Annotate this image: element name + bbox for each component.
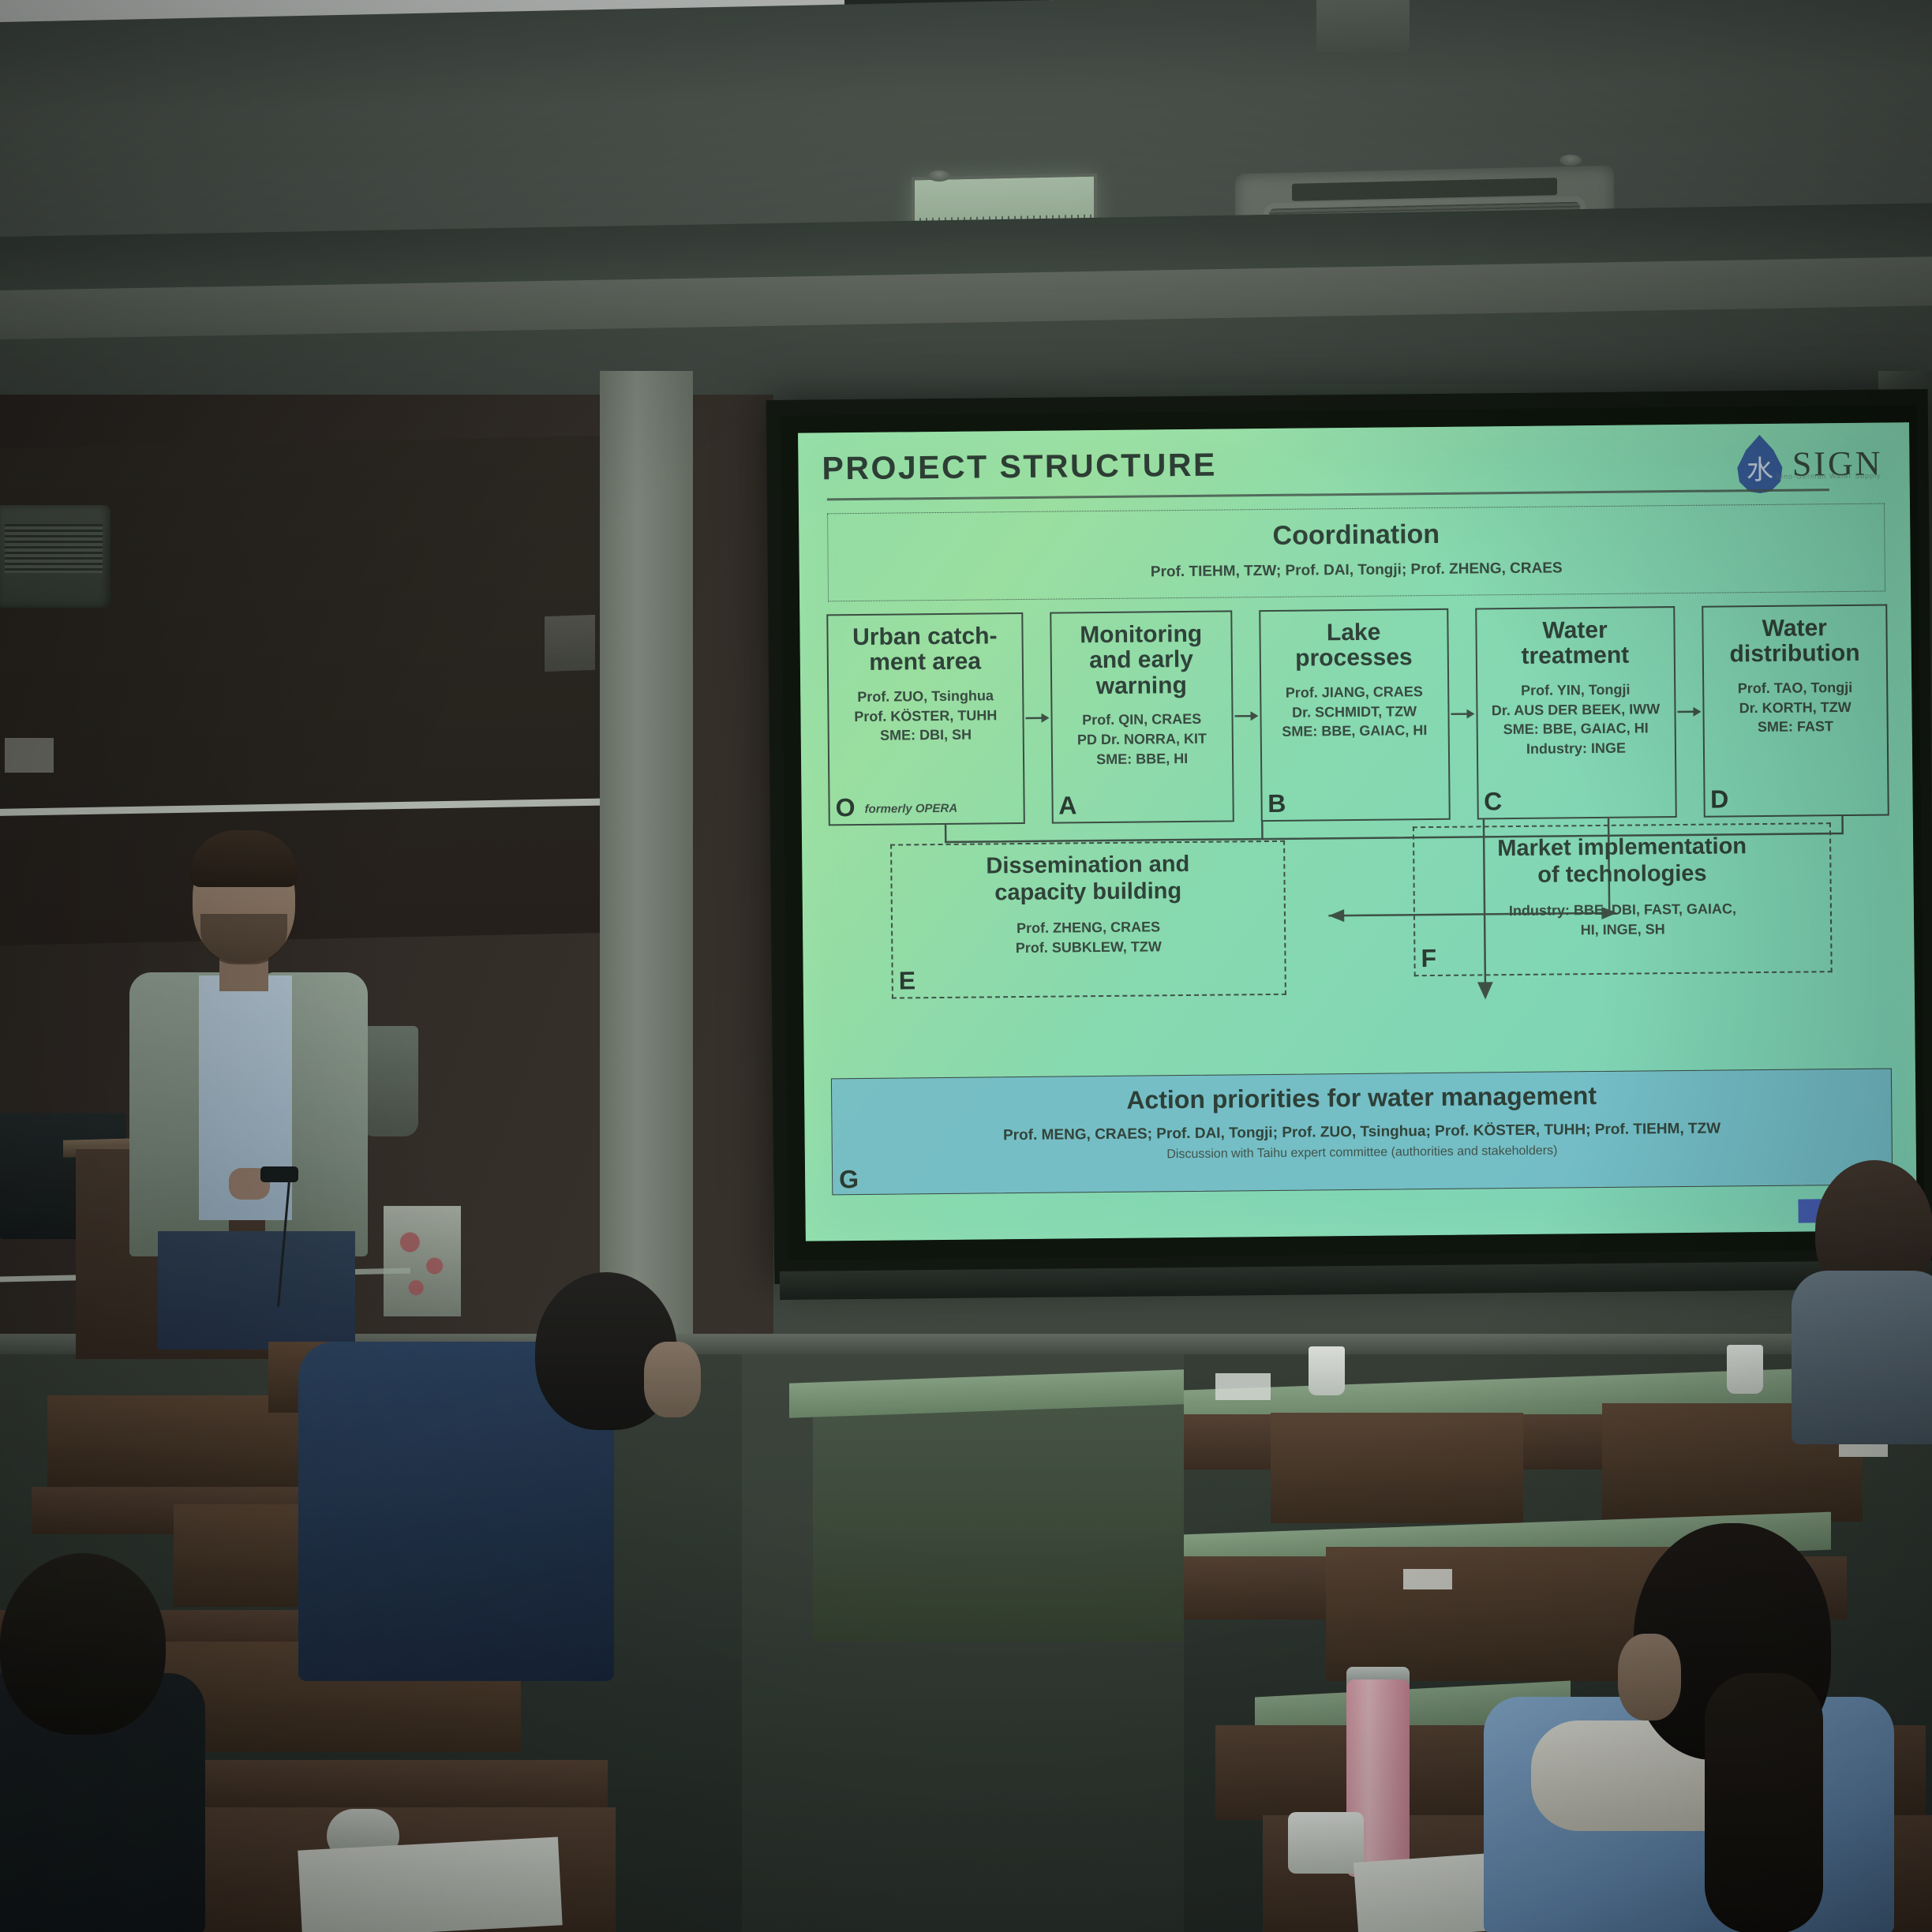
work-package-d: WaterdistributionProf. TAO, TongjiDr. KO… <box>1702 604 1889 817</box>
white-thermos-cup <box>1288 1812 1364 1874</box>
audience-face <box>644 1342 701 1417</box>
dissemination-tag: E <box>899 966 916 995</box>
flow-arrow <box>1023 612 1052 824</box>
work-package-a: Monitoringand earlywarningProf. QIN, CRA… <box>1050 610 1234 823</box>
market-tag: F <box>1421 944 1436 973</box>
work-package-tag: A <box>1058 791 1076 820</box>
mid-connector-row: Dissemination and capacity building Prof… <box>829 815 1891 1005</box>
wall-bracket <box>545 615 595 672</box>
audience-head <box>0 1553 166 1735</box>
dissemination-box: Dissemination and capacity building Prof… <box>890 841 1286 999</box>
work-package-tag: D <box>1710 784 1728 814</box>
slide-title: PROJECT STRUCTURE <box>822 440 1889 487</box>
sign-logo: 水 SIGN <box>1735 434 1882 494</box>
work-package-members: Prof. JIANG, CRAESDr. SCHMIDT, TZWSME: B… <box>1267 682 1442 743</box>
paper-cup <box>1309 1346 1345 1395</box>
paper-sheet <box>298 1837 562 1932</box>
flow-arrow <box>1675 606 1704 818</box>
action-priorities-box: Action priorities for water management P… <box>831 1068 1893 1195</box>
audience-shoulders <box>1792 1271 1932 1444</box>
work-package-title: Watertreatment <box>1483 617 1668 670</box>
presenter-beard <box>200 914 287 964</box>
dissemination-title: Dissemination and capacity building <box>901 850 1275 908</box>
title-divider <box>827 489 1829 500</box>
sign-logo-subtitle: Sino-German Water Supply <box>1776 472 1881 481</box>
ceiling-downlight <box>1559 155 1582 166</box>
projection-screen: PROJECT STRUCTURE 水 SIGN Sino-German Wat… <box>766 389 1932 1284</box>
dissemination-members: Prof. ZHENG, CRAES Prof. SUBKLEW, TZW <box>902 916 1275 958</box>
presentation-clicker <box>260 1166 298 1182</box>
work-package-title: Waterdistribution <box>1709 616 1880 668</box>
ceiling-downlight <box>928 170 950 182</box>
arrow-to-action <box>1477 982 1493 999</box>
flower-arrangement <box>384 1206 461 1316</box>
flow-arrow <box>1232 610 1261 822</box>
wall-ac-unit <box>0 505 110 608</box>
paper-cup <box>1727 1345 1763 1394</box>
work-package-c: WatertreatmentProf. YIN, TongjiDr. AUS D… <box>1475 606 1677 819</box>
work-package-members: Prof. QIN, CRAESPD Dr. NORRA, KITSME: BB… <box>1058 710 1226 770</box>
lecture-room: PROJECT STRUCTURE 水 SIGN Sino-German Wat… <box>0 0 1932 1932</box>
water-droplet-icon: 水 <box>1735 435 1784 494</box>
projector-mount <box>1316 0 1410 52</box>
presenter <box>110 837 387 1326</box>
work-package-title: Urban catch-ment area <box>834 623 1015 676</box>
audience-face <box>1618 1634 1681 1720</box>
work-package-members: Prof. TAO, TongjiDr. KORTH, TZWSME: FAST <box>1710 677 1881 738</box>
side-desk <box>813 1389 1184 1642</box>
work-package-tag: C <box>1484 787 1502 816</box>
ponytail <box>1705 1673 1823 1932</box>
work-package-row: Urban catch-ment areaProf. ZUO, Tsinghua… <box>826 604 1889 826</box>
bench-row <box>1271 1413 1523 1523</box>
work-package-o: Urban catch-ment areaProf. ZUO, Tsinghua… <box>826 612 1024 826</box>
work-package-tag: B <box>1267 789 1286 818</box>
coordination-box: Coordination Prof. TIEHM, TZW; Prof. DAI… <box>827 503 1885 601</box>
work-package-tag-note: formerly OPERA <box>865 802 958 816</box>
market-members: Industry: BBE, DBI, FAST, GAIAC, HI, ING… <box>1425 899 1821 941</box>
desk-label <box>1215 1373 1271 1400</box>
droplet-han-glyph: 水 <box>1735 435 1784 494</box>
work-package-tag: O <box>835 793 855 822</box>
wall-notice <box>5 738 54 773</box>
arrow-to-dissemination <box>1328 909 1344 922</box>
work-package-members: Prof. YIN, TongjiDr. AUS DER BEEK, IWWSM… <box>1484 680 1668 760</box>
work-package-b: LakeprocessesProf. JIANG, CRAESDr. SCHMI… <box>1259 608 1450 822</box>
presentation-slide: PROJECT STRUCTURE 水 SIGN Sino-German Wat… <box>798 422 1917 1241</box>
wall-pillar <box>600 371 693 1350</box>
work-package-members: Prof. ZUO, TsinghuaProf. KÖSTER, TUHHSME… <box>835 686 1016 747</box>
desk-label <box>1403 1569 1452 1589</box>
work-package-title: Monitoringand earlywarning <box>1058 622 1225 700</box>
market-implementation-box: Market implementation of technologies In… <box>1413 822 1833 976</box>
flow-arrow <box>1448 608 1477 819</box>
action-tag: G <box>839 1165 859 1194</box>
screen-bezel: PROJECT STRUCTURE 水 SIGN Sino-German Wat… <box>781 405 1925 1260</box>
market-title: Market implementation of technologies <box>1424 832 1821 889</box>
work-package-title: Lakeprocesses <box>1267 620 1440 672</box>
presenter-jeans <box>158 1231 355 1350</box>
presenter-hair <box>189 830 298 887</box>
